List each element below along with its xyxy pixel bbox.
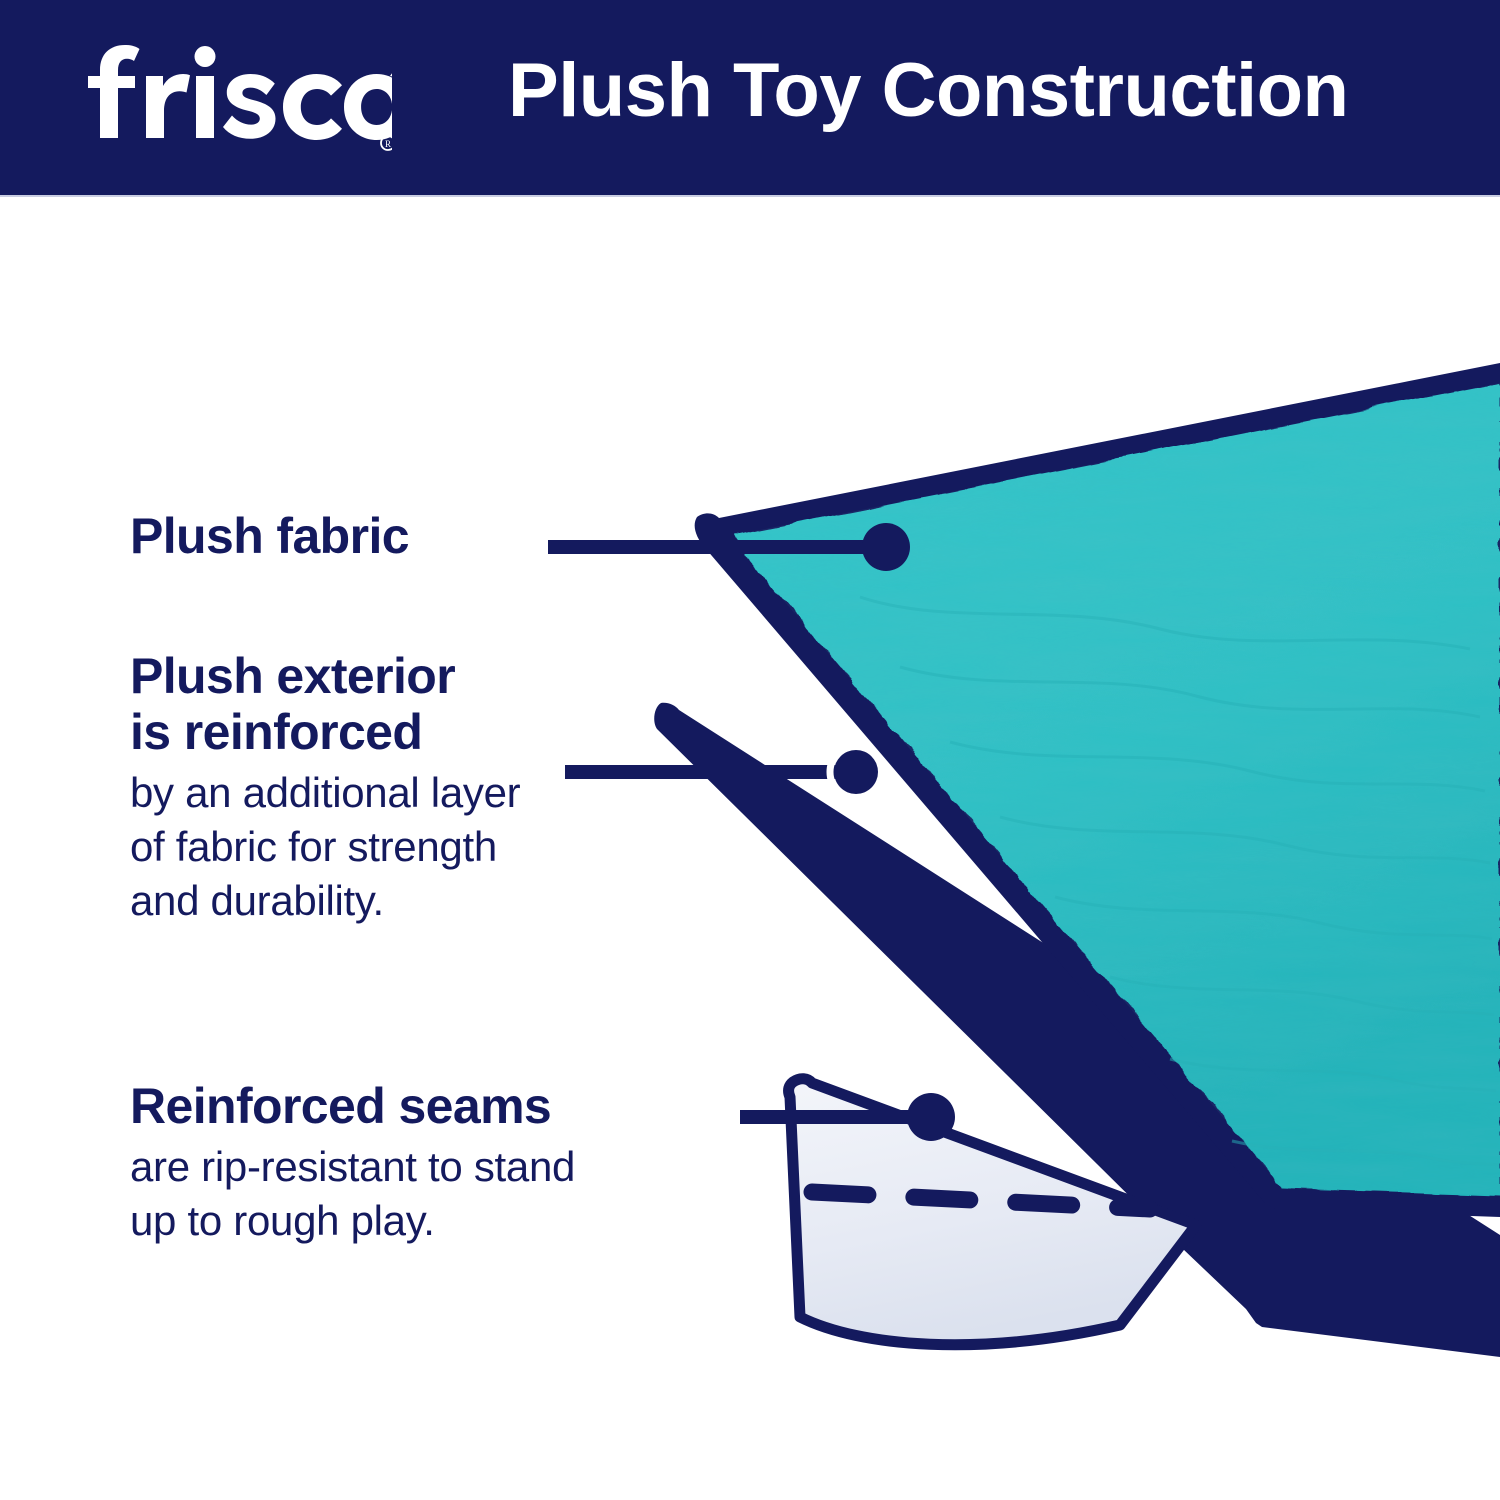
callout-plush-exterior-body: by an additional layer of fabric for str…	[130, 766, 730, 927]
page-title: Plush Toy Construction	[508, 47, 1348, 134]
callout-plush-fabric: Plush fabric	[130, 508, 590, 564]
registered-trademark-icon: R	[381, 136, 392, 150]
callout-reinforced-seams: Reinforced seams are rip-resistant to st…	[130, 1078, 790, 1248]
infographic-page: R Plush Toy Construction	[0, 0, 1500, 1500]
callout-reinforced-seams-headline: Reinforced seams	[130, 1078, 790, 1134]
frisco-logo: R	[82, 42, 392, 154]
callout-plush-exterior-headline: Plush exterior is reinforced	[130, 648, 730, 760]
header-bar: R Plush Toy Construction	[0, 0, 1500, 197]
svg-text:R: R	[385, 139, 391, 149]
callout-reinforced-seams-body: are rip-resistant to stand up to rough p…	[130, 1140, 790, 1248]
callout-plush-exterior: Plush exterior is reinforced by an addit…	[130, 648, 730, 927]
callout-plush-fabric-headline: Plush fabric	[130, 508, 590, 564]
